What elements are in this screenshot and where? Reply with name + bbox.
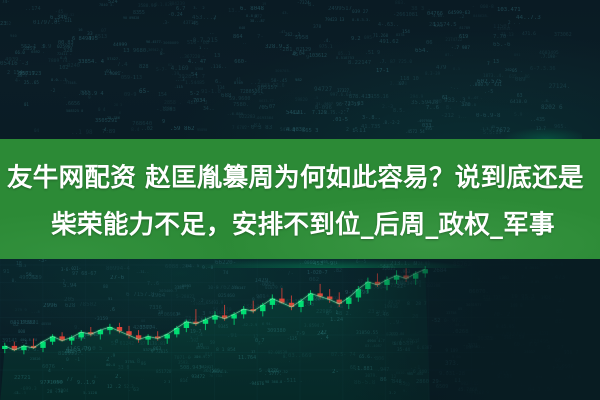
headline-banner: 友牛网配资 赵匡胤篡周为何如此容易？说到底还是 柴荣能力不足，安排不到位_后周_… [0, 139, 600, 259]
top-band-data-noise: 154.8.-2-2.497950 13..8.3-391073..4.8663… [0, 0, 600, 139]
top-background-band: 154.8.-2-2.497950 13..8.3-391073..4.8663… [0, 0, 600, 139]
top-band-chart-glow [462, 113, 582, 139]
candlestick-chart [0, 259, 600, 400]
headline-line-2: 柴荣能力不足，安排不到位_后周_政权_军事 [45, 204, 555, 241]
headline-line-1: 友牛网配资 赵匡胤篡周为何如此容易？说到底还是 [0, 157, 600, 194]
thumbnail-canvas: 154.8.-2-2.497950 13..8.3-391073..4.8663… [0, 0, 600, 400]
bottom-background-band: 7 16 35-44 3384 74165-7997 68-674904 4-7… [0, 259, 600, 400]
